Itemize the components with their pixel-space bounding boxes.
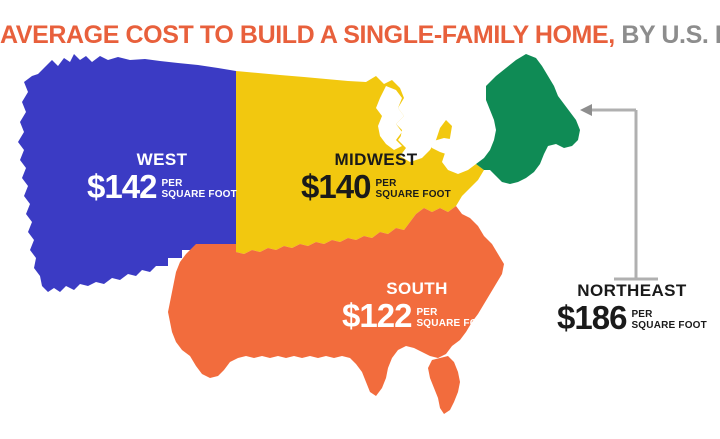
florida-shape <box>428 356 460 414</box>
leader-arrow-icon <box>580 104 592 116</box>
region-name-south: SOUTH <box>322 279 512 299</box>
region-name-northeast: NORTHEAST <box>549 281 715 301</box>
region-price-south: $122 <box>342 299 411 332</box>
region-unit-line1-west: PER <box>161 178 182 189</box>
region-unit-line2-midwest: SQUARE FOOT <box>375 189 451 200</box>
page-title-main: AVERAGE COST TO BUILD A SINGLE-FAMILY HO… <box>0 21 615 49</box>
map-svg <box>0 46 720 439</box>
region-unit-line2-south: SQUARE FOOT <box>416 318 492 329</box>
region-unit-line2-northeast: SQUARE FOOT <box>631 320 707 331</box>
region-value-midwest: $140 PER SQUARE FOOT <box>276 170 476 203</box>
northeast-leader-line <box>580 104 658 279</box>
region-price-midwest: $140 <box>301 170 370 203</box>
region-unit-line2-west: SQUARE FOOT <box>161 189 237 200</box>
region-label-midwest: MIDWEST $140 PER SQUARE FOOT <box>276 150 476 203</box>
lake-ontario-shape <box>452 122 484 138</box>
region-shape-northeast[interactable] <box>476 54 580 184</box>
region-label-south: SOUTH $122 PER SQUARE FOOT <box>322 279 512 332</box>
region-unit-line1-south: PER <box>416 307 437 318</box>
region-unit-midwest: PER SQUARE FOOT <box>375 178 451 203</box>
region-price-northeast: $186 <box>557 301 626 334</box>
page-title-sub: BY U.S. REGION <box>615 21 720 49</box>
region-value-west: $142 PER SQUARE FOOT <box>62 170 262 203</box>
region-unit-south: PER SQUARE FOOT <box>416 307 492 332</box>
region-price-west: $142 <box>87 170 156 203</box>
region-name-midwest: MIDWEST <box>276 150 476 170</box>
region-value-south: $122 PER SQUARE FOOT <box>322 299 512 332</box>
region-unit-west: PER SQUARE FOOT <box>161 178 237 203</box>
region-label-west: WEST $142 PER SQUARE FOOT <box>62 150 262 203</box>
region-unit-northeast: PER SQUARE FOOT <box>631 309 707 334</box>
region-name-west: WEST <box>62 150 262 170</box>
us-region-map <box>0 46 720 439</box>
region-unit-line1-midwest: PER <box>375 178 396 189</box>
region-value-northeast: $186 PER SQUARE FOOT <box>549 301 715 334</box>
region-unit-line1-northeast: PER <box>631 309 652 320</box>
infographic-root: AVERAGE COST TO BUILD A SINGLE-FAMILY HO… <box>0 0 720 439</box>
region-label-northeast: NORTHEAST $186 PER SQUARE FOOT <box>549 281 715 334</box>
